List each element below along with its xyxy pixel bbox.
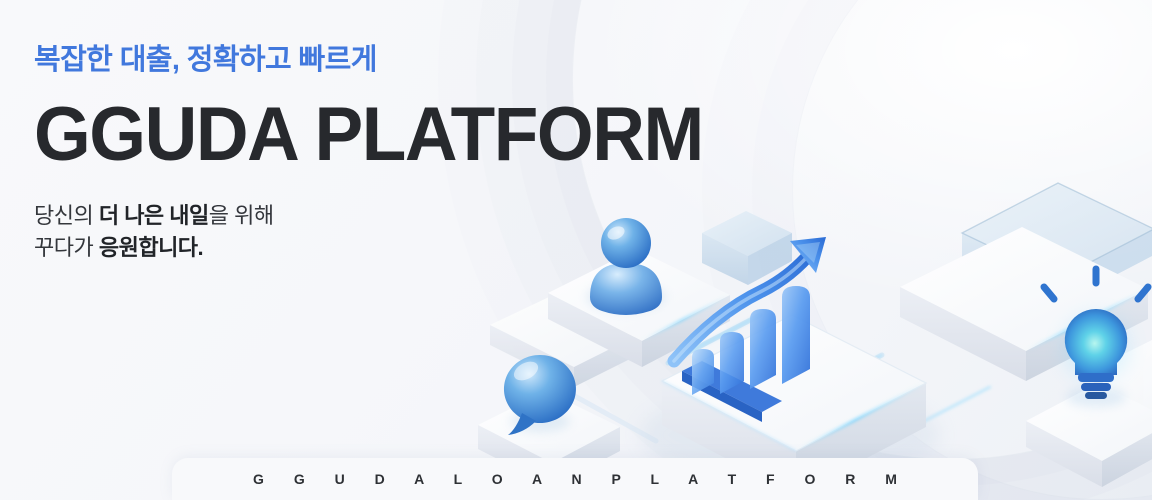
hero-copy-block: 복잡한 대출, 정확하고 빠르게 GGUDA PLATFORM 당신의 더 나은…	[34, 0, 731, 263]
bottom-brand-text: G G U D A L O A N P L A T F O R M	[240, 471, 910, 487]
subcopy-emphasis-2: 응원합니다.	[99, 235, 203, 260]
hero-subcopy-line-2: 꾸다가 응원합니다.	[34, 232, 731, 263]
hero-eyebrow: 복잡한 대출, 정확하고 빠르게	[34, 36, 731, 78]
hero-subcopy-line-1: 당신의 더 나은 내일을 위해	[34, 200, 731, 231]
chart-bar-3	[750, 309, 776, 389]
subcopy-text: 당신의	[34, 203, 99, 228]
subcopy-text-2: 꾸다가	[34, 235, 99, 260]
speech-bubble-icon	[504, 355, 576, 435]
subcopy-text-tail: 을 위해	[209, 203, 274, 228]
page-title: GGUDA PLATFORM	[34, 98, 703, 172]
subcopy-emphasis: 더 나은 내일	[99, 203, 209, 228]
bottom-brand-strip: G G U D A L O A N P L A T F O R M	[172, 458, 978, 500]
hero-banner: 복잡한 대출, 정확하고 빠르게 GGUDA PLATFORM 당신의 더 나은…	[0, 0, 1152, 500]
hero-subcopy: 당신의 더 나은 내일을 위해 꾸다가 응원합니다.	[34, 200, 731, 262]
chart-bar-4	[782, 286, 810, 384]
